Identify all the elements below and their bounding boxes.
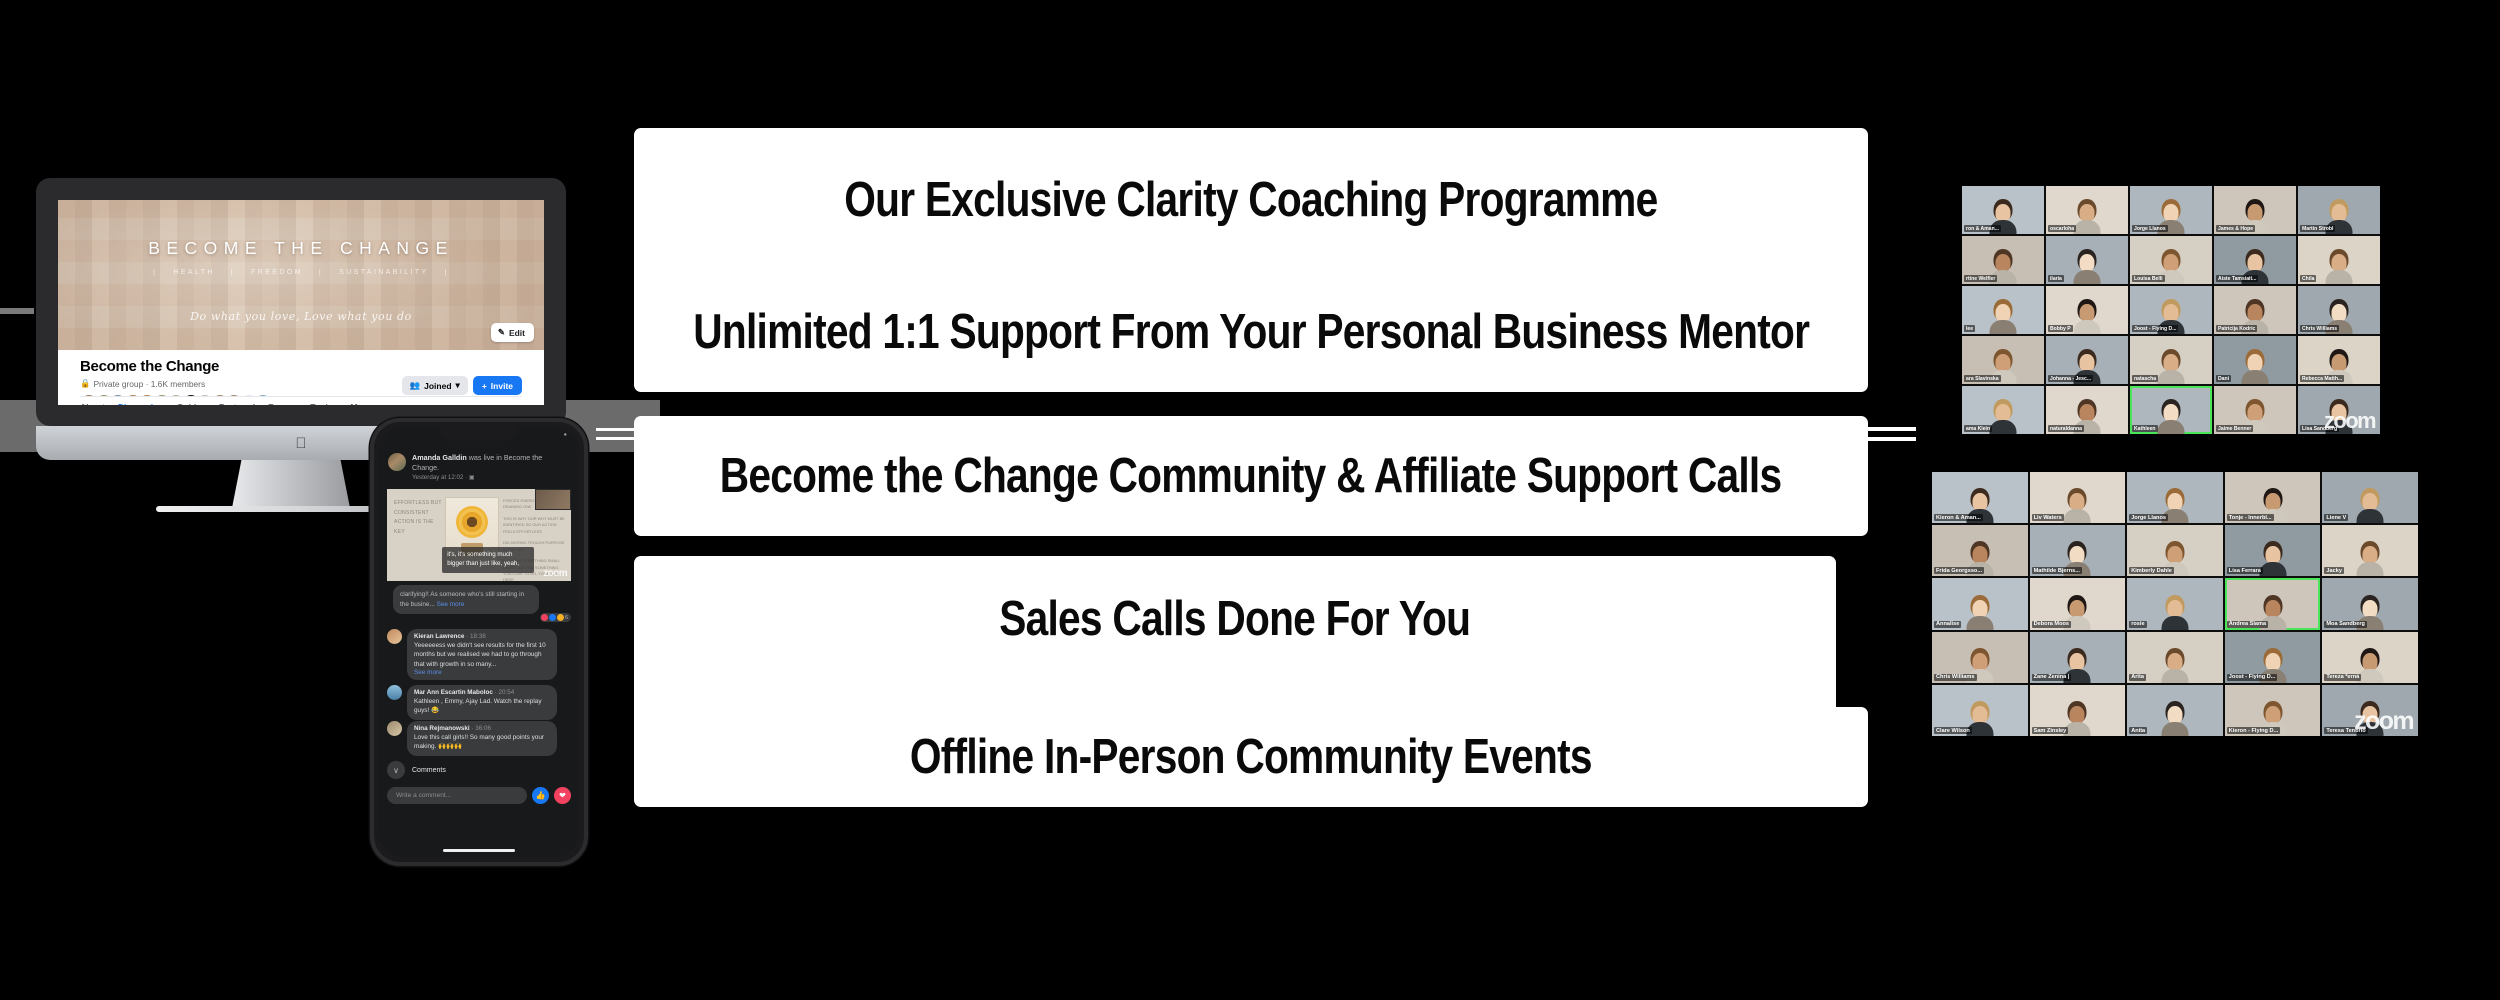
participant-name: Chris Williams (1934, 674, 1977, 681)
participant-tile[interactable]: oscarloha (2046, 186, 2128, 234)
participant-tile[interactable]: Annalise (1932, 578, 2028, 629)
people-icon: 👥 (410, 380, 421, 391)
cover-divider-2: | (231, 269, 235, 276)
cover-pillar-health: HEALTH (173, 269, 215, 276)
zoom-watermark: zoom (2324, 410, 2375, 432)
participant-tile[interactable]: Jorge Llanos (2127, 472, 2223, 523)
comment-author-name: Kieran Lawrence (414, 633, 464, 640)
desk-edge-line (0, 308, 34, 314)
participant-video (2161, 600, 2188, 630)
participant-tile[interactable]: Kimberly Dahle (2127, 525, 2223, 576)
participant-tile[interactable]: ron & Aman... (1962, 186, 2044, 234)
participant-tile[interactable]: natascha (2130, 336, 2212, 384)
tab-discussion[interactable]: Discussion (118, 402, 164, 405)
post-header: Amanda Galldin was live in Become the Ch… (379, 447, 579, 487)
participant-name: Patricija Kodric (2216, 325, 2257, 332)
participant-name: Kieron - Flying D... (2227, 727, 2280, 734)
participant-tile[interactable]: Joost - Flying D... (2130, 286, 2212, 334)
slide-left-text: EFFORTLESS BUT CONSISTENT ACTION IS THE … (394, 499, 442, 538)
invite-button[interactable]: + Invite (473, 376, 522, 395)
comment-item: Kieran Lawrence · 18:38 Yeeeeeess we did… (387, 629, 571, 680)
imac-stand (232, 460, 350, 508)
post-action-text: was live in (467, 453, 504, 462)
participant-name: Debora Moos (2032, 621, 2071, 628)
comment-author[interactable]: Kieran Lawrence · 18:38 (414, 633, 550, 640)
cover-pillar-sustainability: SUSTAINABILITY (339, 269, 428, 276)
tab-topics[interactable]: Topics (310, 402, 337, 405)
post-time-text: Yesterday at 12:02 · (412, 474, 467, 481)
participant-tile[interactable]: ara Slavinska (1962, 336, 2044, 384)
avatar[interactable] (387, 685, 402, 700)
participant-name: Aiste Tamsiait... (2216, 275, 2258, 282)
participant-video (2074, 304, 2101, 334)
participant-tile[interactable]: Jaime Benner (2214, 386, 2296, 434)
comment-author[interactable]: Mar Ann Escartin Maboloc · 20:54 (414, 689, 550, 696)
post-headline: Amanda Galldin was live in Become the Ch… (412, 453, 570, 472)
participant-tile[interactable]: Kieron - Flying D... (2225, 685, 2321, 736)
participant-tile[interactable]: Liv Waters (2030, 472, 2126, 523)
participant-name: Arita (2129, 674, 2146, 681)
comment-bubble: Kieran Lawrence · 18:38 Yeeeeeess we did… (407, 629, 557, 680)
phone-screen: ● Amanda Galldin was live in Become the … (379, 427, 579, 857)
comment-input[interactable]: Write a comment... (387, 787, 527, 804)
benefit-title-4: Sales Calls Done For You (999, 595, 1470, 644)
comment-time: 20:54 (498, 689, 514, 696)
participant-tile[interactable]: Tonje - Innerbl... (2225, 472, 2321, 523)
comment-text: Yeeeeeess we didn't see results for the … (414, 641, 550, 669)
comment-author-name: Nina Rejmanowski (414, 725, 470, 732)
participant-video (2074, 254, 2101, 284)
post-meta: Amanda Galldin was live in Become the Ch… (412, 453, 570, 481)
slide-right-p2: THIS IS WHY OUR WHY MUST BE IDENTIFIED S… (503, 516, 565, 535)
participant-name: Tonje - Innerbl... (2227, 514, 2274, 521)
reaction-count: 6 (565, 615, 568, 621)
participant-tile[interactable]: ama Klein (1962, 386, 2044, 434)
participant-name: lee (1964, 325, 1975, 332)
slide-canvas: BECOME THE CHANGE |HEALTH|FREEDOM|SUSTAI… (0, 0, 2500, 1000)
participant-tile[interactable]: Louisa Belli (2130, 236, 2212, 284)
comment-item: Mar Ann Escartin Maboloc · 20:54 Kathlee… (387, 685, 571, 720)
participant-video (2161, 706, 2188, 736)
participant-tile[interactable]: Bobby P (2046, 286, 2128, 334)
cover-pillars: |HEALTH|FREEDOM|SUSTAINABILITY| (58, 269, 544, 276)
participant-name: Clare Wilson (1934, 727, 1972, 734)
participant-name: Anita (2129, 727, 2147, 734)
participant-tile[interactable]: Arita (2127, 632, 2223, 683)
tab-about[interactable]: About (80, 402, 105, 405)
edit-label: Edit (509, 328, 525, 338)
participant-name: Mathilde Bjerns... (2032, 567, 2082, 574)
post-author-name[interactable]: Amanda Galldin (412, 453, 467, 462)
sunflower-graphic (459, 509, 485, 535)
participant-video (2259, 546, 2286, 576)
participant-tile[interactable]: rtine Welfler (1962, 236, 2044, 284)
post-timestamp: Yesterday at 12:02 · ▣ (412, 474, 570, 481)
love-reaction-icon (541, 614, 548, 621)
participant-name: ama Klein (1964, 425, 1992, 432)
participant-name: Tereza *erná (2324, 674, 2361, 681)
avatar[interactable] (387, 629, 402, 644)
benefit-band-3: Become the Change Community & Affiliate … (634, 416, 1868, 536)
participant-name: Martin Strobl (2300, 225, 2335, 232)
cover-divider-3: | (319, 269, 323, 276)
presenter-camera-tile (535, 489, 571, 510)
participant-video (2064, 493, 2091, 523)
participant-tile[interactable]: Aiste Tamsiait... (2214, 236, 2296, 284)
pencil-icon: ✎ (498, 327, 505, 338)
participant-tile[interactable]: Johanna - Jesc... (2046, 336, 2128, 384)
avatar[interactable] (387, 721, 402, 736)
participant-name: Louisa Belli (2132, 275, 2165, 282)
comment-separator: · (471, 725, 473, 732)
comment-bubble: Mar Ann Escartin Maboloc · 20:54 Kathlee… (407, 685, 557, 720)
participant-video (2161, 653, 2188, 683)
participant-video (2158, 354, 2185, 384)
participant-name: Jorge Llanos (2129, 514, 2168, 521)
status-right: ● (564, 432, 567, 438)
participant-tile[interactable]: Frida Georgsso... (1932, 525, 2028, 576)
tab-featured[interactable]: Featured (219, 402, 255, 405)
participant-name: Kathleen (2132, 425, 2158, 432)
participant-name: Kieron & Aman... (1934, 514, 1983, 521)
love-button[interactable]: ❤ (554, 787, 571, 804)
participant-name: rosie (2129, 621, 2146, 628)
participant-tile[interactable]: Clare Wilson (1932, 685, 2028, 736)
participant-tile[interactable]: Debora Moos (2030, 578, 2126, 629)
apple-logo-icon:  (295, 436, 306, 451)
participant-name: Sam Zinsley (2032, 727, 2069, 734)
participant-tile[interactable]: Chris Williams (2298, 286, 2380, 334)
participant-name: Kimberly Dahle (2129, 567, 2174, 574)
participant-tile[interactable]: Joost - Flying D... (2225, 632, 2321, 683)
home-indicator (443, 849, 515, 852)
participant-video (2242, 354, 2269, 384)
iphone-mockup: ● Amanda Galldin was live in Become the … (370, 418, 588, 866)
participant-name: Lisa Ferrara (2227, 567, 2263, 574)
comment-separator: · (466, 633, 468, 640)
participant-name: Joost - Flying D... (2132, 325, 2178, 332)
zoom-call-grid-top: ron & Aman...oscarlohaJorge LlanosJames … (1962, 186, 2380, 434)
imac-screen: BECOME THE CHANGE |HEALTH|FREEDOM|SUSTAI… (58, 200, 544, 405)
cover-tagline: Do what you love, Love what you do (58, 310, 544, 323)
invite-label: Invite (491, 381, 513, 391)
comment-see-more[interactable]: See more (414, 669, 550, 676)
participant-name: Zane Zenina | (2032, 674, 2072, 681)
participant-video (2357, 546, 2384, 576)
cover-pillar-freedom: FREEDOM (251, 269, 303, 276)
participant-tile[interactable]: Sam Zinsley (2030, 685, 2126, 736)
participant-tile[interactable]: Jacky (2322, 525, 2418, 576)
participant-tile[interactable]: James & Hope (2214, 186, 2296, 234)
participant-video (2158, 404, 2185, 434)
comment-text: Love this call girls!! So many good poin… (414, 733, 550, 752)
participant-name: natascha (2132, 375, 2158, 382)
participant-video (1990, 404, 2017, 434)
participant-name: Andrea Slama (2227, 621, 2268, 628)
comment-author-name: Mar Ann Escartin Maboloc (414, 689, 493, 696)
group-tabs: About Discussion Guides Featured Rooms T… (80, 396, 522, 405)
participant-video (1966, 600, 1993, 630)
chevron-down-icon: ▾ (456, 380, 460, 391)
plus-icon: + (482, 381, 487, 391)
comment-composer: Write a comment... 👍 ❤ (387, 787, 571, 804)
connector-line-left-1 (596, 428, 636, 431)
participant-tile[interactable]: Liene V (2322, 472, 2418, 523)
participant-name: James & Hope (2216, 225, 2255, 232)
participant-name: Chila (2300, 275, 2316, 282)
participant-tile[interactable]: naturaldanna (2046, 386, 2128, 434)
participant-name: ilaria (2048, 275, 2064, 282)
participant-tile[interactable]: Kathleen (2130, 386, 2212, 434)
comment-time: 36:06 (475, 725, 491, 732)
comments-label: Comments (412, 767, 446, 774)
participant-tile[interactable]: Andrea Slama (2225, 578, 2321, 629)
participant-name: rtine Welfler (1964, 275, 1997, 282)
participant-tile[interactable]: Chris Williams (1932, 632, 2028, 683)
joined-label: Joined (424, 381, 451, 391)
benefit-title-1: Our Exclusive Clarity Coaching Programme (844, 176, 1657, 225)
tab-rooms[interactable]: Rooms (268, 402, 297, 405)
previous-comment: clarifying!! As someone who's still star… (393, 585, 539, 614)
comment-separator: · (495, 689, 497, 696)
like-button[interactable]: 👍 (532, 787, 549, 804)
lock-icon: 🔒 (80, 378, 90, 389)
participant-name: Jacky (2324, 567, 2344, 574)
participant-tile[interactable]: Chila (2298, 236, 2380, 284)
post-video-thumbnail[interactable]: EFFORTLESS BUT CONSISTENT ACTION IS THE … (387, 489, 571, 581)
connector-line-left-2 (596, 437, 636, 440)
participant-name: Rebecca Matth... (2300, 375, 2344, 382)
benefit-title-3: Become the Change Community & Affiliate … (720, 452, 1782, 501)
participant-tile[interactable]: Rebecca Matth... (2298, 336, 2380, 384)
participant-tile[interactable]: Jorge Llanos (2130, 186, 2212, 234)
participant-name: Moa Sandberg (2324, 621, 2367, 628)
participant-tile[interactable]: Kieron & Aman... (1932, 472, 2028, 523)
participant-video (1990, 304, 2017, 334)
participant-tile[interactable]: Dani (2214, 336, 2296, 384)
audience-icon: ▣ (469, 474, 475, 481)
participant-tile[interactable]: Lisa Ferrara (2225, 525, 2321, 576)
participant-tile[interactable]: Martin Strobl (2298, 186, 2380, 234)
phone-notch (440, 427, 518, 441)
connector-line-right-1 (1864, 427, 1916, 431)
participant-name: Joost - Flying D... (2227, 674, 2278, 681)
participant-tile[interactable]: Moa Sandberg (2322, 578, 2418, 629)
cover-divider-4: | (445, 269, 449, 276)
like-reaction-icon (549, 614, 556, 621)
participant-tile[interactable]: lee (1962, 286, 2044, 334)
chevron-down-icon: ∨ (387, 761, 405, 779)
participant-tile[interactable]: Anita (2127, 685, 2223, 736)
benefit-band-4: Sales Calls Done For You (634, 556, 1836, 724)
participant-name: Liv Waters (2032, 514, 2064, 521)
comment-time: 18:38 (470, 633, 486, 640)
participant-name: Bobby P (2048, 325, 2073, 332)
comment-text: Kathleen , Emmy, Ajay Lad. Watch the rep… (414, 697, 550, 716)
comment-author[interactable]: Nina Rejmanowski · 36:06 (414, 725, 550, 732)
participant-tile[interactable]: rosie (2127, 578, 2223, 629)
benefit-title-5: Offline In-Person Community Events (910, 733, 1592, 782)
participant-tile[interactable]: Patricija Kodric (2214, 286, 2296, 334)
participant-tile[interactable]: ilaria (2046, 236, 2128, 284)
facebook-group-cover: BECOME THE CHANGE |HEALTH|FREEDOM|SUSTAI… (58, 200, 544, 350)
participant-tile[interactable]: Mathilde Bjerns... (2030, 525, 2126, 576)
tab-guides[interactable]: Guides (177, 402, 206, 405)
joined-button[interactable]: 👥 Joined ▾ (402, 376, 468, 395)
participant-name: Annalise (1934, 621, 1961, 628)
participant-name: Jaime Benner (2216, 425, 2253, 432)
zoom-call-grid-bottom: Kieron & Aman...Liv WatersJorge LlanosTo… (1932, 472, 2418, 736)
participant-tile[interactable]: Tereza *erná (2322, 632, 2418, 683)
participant-name: Liene V (2324, 514, 2348, 521)
participant-video (2074, 204, 2101, 234)
post-author-avatar[interactable] (388, 453, 406, 471)
participant-name: Jorge Llanos (2132, 225, 2168, 232)
benefit-band-5: Offline In-Person Community Events (634, 707, 1868, 807)
group-action-buttons: 👥 Joined ▾ + Invite (402, 376, 522, 395)
comment-item: Nina Rejmanowski · 36:06 Love this call … (387, 721, 571, 756)
imac-body: BECOME THE CHANGE |HEALTH|FREEDOM|SUSTAI… (36, 178, 566, 426)
cover-divider-1: | (153, 269, 157, 276)
group-name: Become the Change (80, 358, 522, 375)
participant-name: Chris Williams (2300, 325, 2339, 332)
comments-toggle[interactable]: ∨ Comments (387, 761, 446, 779)
benefit-band-1: Our Exclusive Clarity Coaching Programme (634, 128, 1868, 392)
participant-video (2326, 254, 2353, 284)
edit-cover-button[interactable]: ✎ Edit (491, 323, 534, 342)
participant-tile[interactable]: Zane Zenina | (2030, 632, 2126, 683)
participant-name: ron & Aman... (1964, 225, 2001, 232)
participant-name: Johanna - Jesc... (2048, 375, 2093, 382)
reaction-pill[interactable]: 6 (540, 613, 571, 622)
participant-name: Dani (2216, 375, 2231, 382)
participant-name: ara Slavinska (1964, 375, 2001, 382)
cover-title: BECOME THE CHANGE (58, 238, 544, 259)
care-reaction-icon (557, 614, 564, 621)
participant-name: oscarloha (2048, 225, 2076, 232)
zoom-watermark: zoom (2354, 709, 2413, 734)
comment-bubble: Nina Rejmanowski · 36:06 Love this call … (407, 721, 557, 756)
live-caption: it's, it's something much bigger than ju… (442, 547, 534, 573)
participant-name: naturaldanna (2048, 425, 2084, 432)
tab-members[interactable]: Me (350, 402, 362, 405)
zoom-watermark: zoom (543, 568, 567, 579)
participant-name: Frida Georgsso... (1934, 567, 1984, 574)
previous-comment-see-more[interactable]: See more (437, 601, 465, 608)
group-meta-text: Private group · 1.6K members (93, 379, 205, 389)
connector-line-right-2 (1864, 437, 1916, 441)
participant-video (2357, 493, 2384, 523)
